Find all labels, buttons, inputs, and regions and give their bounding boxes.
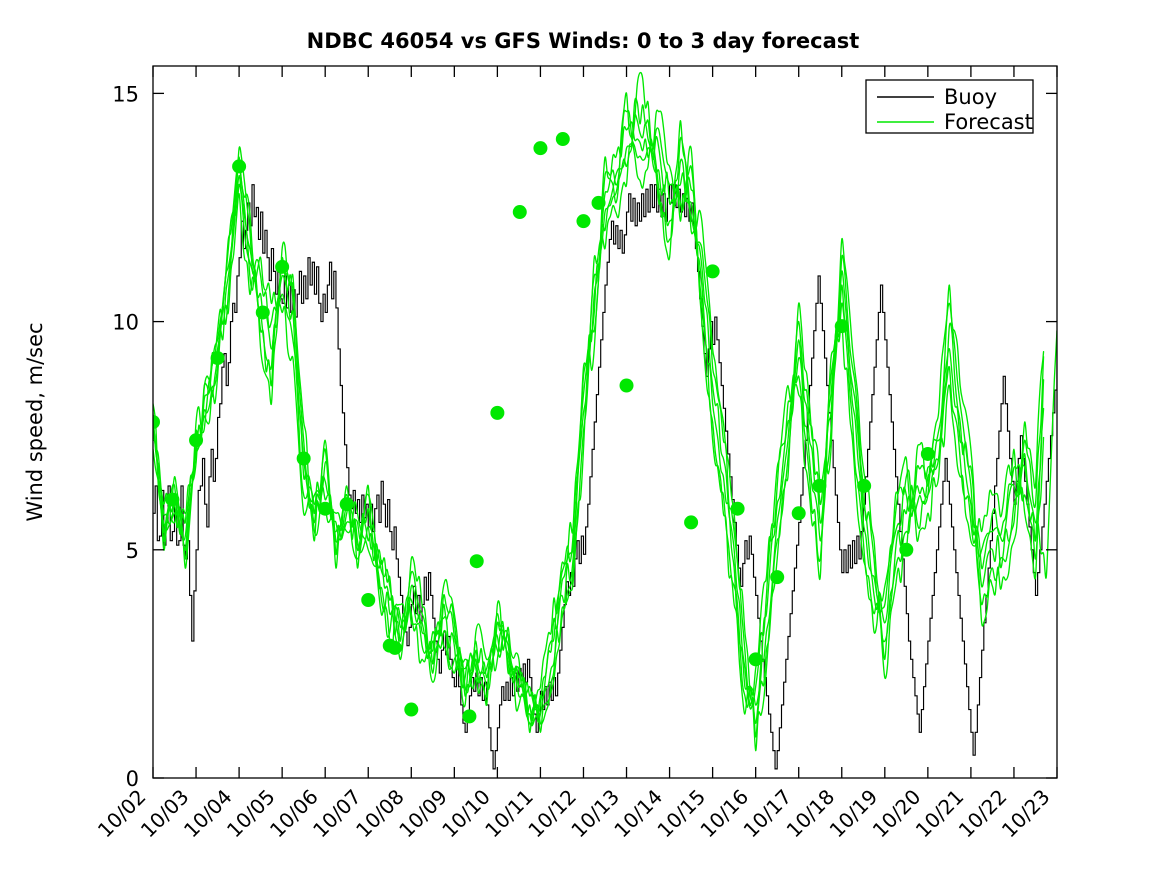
forecast-marker-dot [706,264,720,278]
forecast-marker-dot [165,493,179,507]
forecast-marker-dot [490,406,504,420]
forecast-marker-dot [899,543,913,557]
forecast-marker-dot [792,506,806,520]
forecast-marker-dot [576,214,590,228]
forecast-marker-dot [749,652,763,666]
chart-page: NDBC 46054 vs GFS Winds: 0 to 3 day fore… [0,0,1167,875]
forecast-marker-dot [297,452,311,466]
forecast-marker-dot [684,515,698,529]
y-tick-label: 5 [126,539,139,563]
forecast-marker-dot [835,319,849,333]
y-tick-label: 15 [112,82,139,106]
forecast-marker-dot [513,205,527,219]
forecast-marker-dot [211,351,225,365]
forecast-marker-dot [731,502,745,516]
forecast-marker-dot [318,502,332,516]
forecast-marker-dot [770,570,784,584]
forecast-marker-dot [275,260,289,274]
y-axis-title: Wind speed, m/sec [23,322,47,521]
forecast-marker-dot [232,159,246,173]
chart-title: NDBC 46054 vs GFS Winds: 0 to 3 day fore… [307,29,860,53]
forecast-marker-dot [921,447,935,461]
forecast-marker-dot [556,132,570,146]
forecast-marker-dot [812,479,826,493]
forecast-marker-dot [256,305,270,319]
legend-label-forecast: Forecast [944,110,1033,134]
forecast-marker-dot [857,479,871,493]
forecast-marker-dot [404,703,418,717]
wind-speed-chart: NDBC 46054 vs GFS Winds: 0 to 3 day fore… [0,0,1167,875]
forecast-marker-dot [388,641,402,655]
forecast-marker-dot [592,196,606,210]
forecast-marker-dot [620,378,634,392]
forecast-marker-dot [189,433,203,447]
forecast-marker-dot [340,497,354,511]
forecast-marker-dot [533,141,547,155]
forecast-marker-dot [470,554,484,568]
y-tick-label: 10 [112,311,139,335]
chart-legend[interactable]: Buoy Forecast [866,80,1033,134]
forecast-marker-dot [361,593,375,607]
forecast-marker-dot [462,709,476,723]
legend-label-buoy: Buoy [944,85,997,109]
